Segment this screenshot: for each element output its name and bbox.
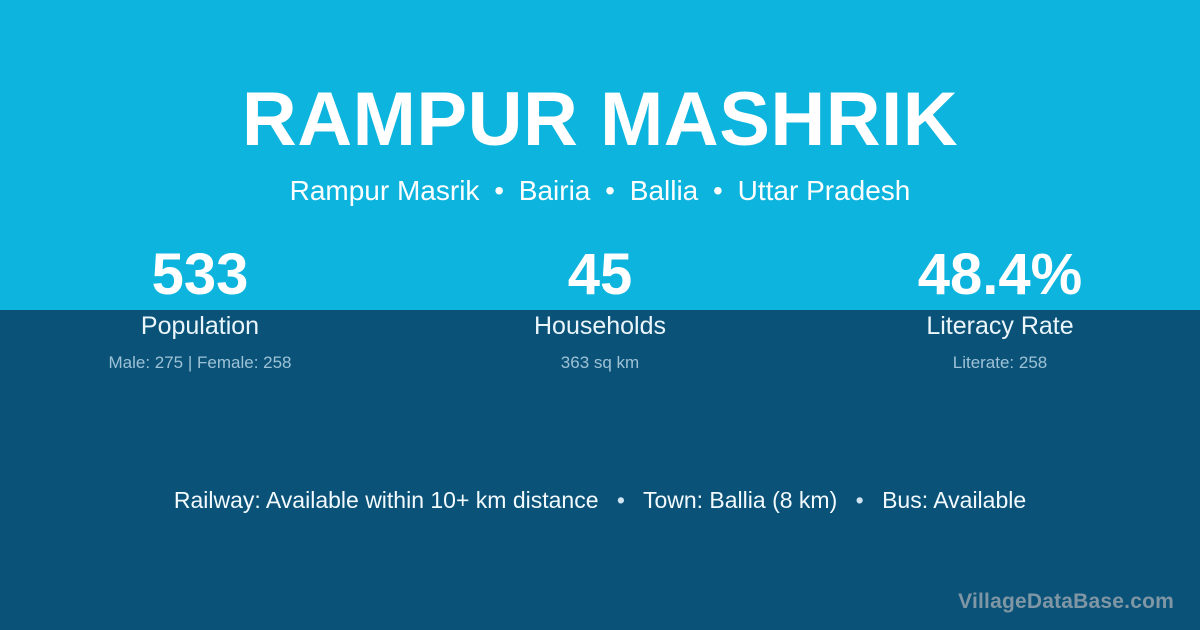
stat-households-sub: 363 sq km [400,342,800,375]
facility-town: Town: Ballia (8 km) [643,487,837,513]
facility-railway: Railway: Available within 10+ km distanc… [174,487,599,513]
breadcrumb-item-district: Ballia [630,175,698,206]
stat-literacy-rate-label: Literacy Rate [800,308,1200,342]
facility-separator: • [844,487,876,513]
stat-population: 533 Population Male: 275 | Female: 258 [0,242,400,375]
facility-bus: Bus: Available [882,487,1026,513]
card-header: RAMPUR MASHRIK Rampur Masrik • Bairia • … [0,0,1200,208]
breadcrumb-separator: • [598,175,622,206]
facility-separator: • [605,487,637,513]
stat-population-sub: Male: 275 | Female: 258 [0,342,400,375]
breadcrumb-separator: • [487,175,511,206]
breadcrumb-separator: • [706,175,730,206]
village-info-card: RAMPUR MASHRIK Rampur Masrik • Bairia • … [0,0,1200,630]
stat-literacy-rate: 48.4% Literacy Rate Literate: 258 [800,242,1200,375]
breadcrumb-item-block: Bairia [519,175,591,206]
breadcrumb-item-state: Uttar Pradesh [738,175,911,206]
stat-households-label: Households [400,308,800,342]
stat-literacy-rate-sub: Literate: 258 [800,342,1200,375]
stat-households-value: 45 [400,242,800,308]
stat-population-label: Population [0,308,400,342]
stats-row: 533 Population Male: 275 | Female: 258 4… [0,242,1200,375]
stat-literacy-rate-value: 48.4% [800,242,1200,308]
page-title: RAMPUR MASHRIK [0,0,1200,162]
site-watermark: VillageDataBase.com [958,588,1174,616]
stat-population-value: 533 [0,242,400,308]
breadcrumb-item-village: Rampur Masrik [290,175,480,206]
facilities-line: Railway: Available within 10+ km distanc… [0,484,1200,516]
stat-households: 45 Households 363 sq km [400,242,800,375]
breadcrumb: Rampur Masrik • Bairia • Ballia • Uttar … [0,162,1200,208]
